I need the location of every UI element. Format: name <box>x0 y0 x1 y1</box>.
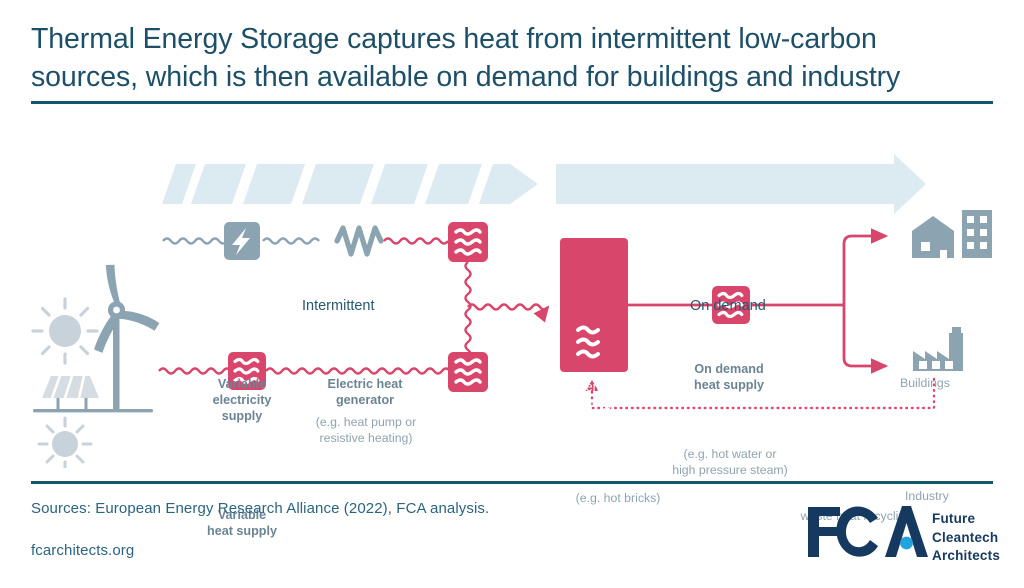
label-electric-heat-generator: Electric heat generator <box>304 377 426 409</box>
label-buildings: Buildings <box>900 376 1010 392</box>
wavy-line-heat-lower-1 <box>159 369 231 374</box>
factory-icon <box>913 327 963 371</box>
logo-dot-icon <box>900 537 913 550</box>
title-divider <box>31 101 993 104</box>
fca-logo: Future Cleantech Architects <box>806 503 996 565</box>
thermal-energy-storage-block <box>560 238 628 372</box>
ground-line-top <box>33 409 153 412</box>
wavy-line-heat-lower-2 <box>266 369 450 374</box>
page-title: Thermal Energy Storage captures heat fro… <box>31 20 991 96</box>
wavy-line-elec-2 <box>263 239 319 244</box>
fca-logomark <box>806 503 928 561</box>
wavy-arrow-to-storage <box>468 305 548 310</box>
label-on-demand-heat-supply: On demand heat supply <box>666 362 792 394</box>
sun-icon-lower <box>39 418 91 468</box>
resistor-icon <box>337 228 381 254</box>
wind-turbine-icon <box>92 264 161 411</box>
label-thermal-energy-storage-example: (e.g. hot bricks) <box>540 491 696 507</box>
branch-to-buildings <box>844 236 886 305</box>
sources-text: Sources: European Energy Research Allian… <box>31 500 489 517</box>
buildings-icon <box>912 210 992 258</box>
footer-divider <box>31 481 993 484</box>
label-electric-heat-generator-example: (e.g. heat pump or resistive heating) <box>298 415 434 446</box>
on-demand-banner <box>556 154 926 214</box>
pv-panel-icon <box>42 376 99 410</box>
lightning-bolt-icon <box>224 222 260 260</box>
diagram-svg <box>0 118 1024 468</box>
banner-label-on-demand: On demand <box>690 298 766 314</box>
intermittent-banner <box>162 164 538 204</box>
infographic-page: Thermal Energy Storage captures heat fro… <box>0 0 1024 588</box>
fca-logo-wordmark: Future Cleantech Architects <box>932 510 1000 566</box>
sun-icon <box>33 299 97 363</box>
wavy-line-heat-1 <box>384 239 448 244</box>
heat-exchanger-icon-top <box>448 222 488 262</box>
banner-label-intermittent: Intermittent <box>302 298 375 314</box>
label-variable-electricity-supply: Variable electricity supply <box>186 377 298 425</box>
branch-to-industry <box>844 305 886 366</box>
wavy-line-vertical <box>466 262 471 358</box>
label-thermal-energy-storage: Thermal energy storage <box>560 379 628 428</box>
label-on-demand-heat-supply-example: (e.g. hot water or high pressure steam) <box>650 447 810 478</box>
website-link[interactable]: fcarchitects.org <box>31 542 134 559</box>
diagram-area: Intermittent On demand Variable electric… <box>0 118 1024 468</box>
